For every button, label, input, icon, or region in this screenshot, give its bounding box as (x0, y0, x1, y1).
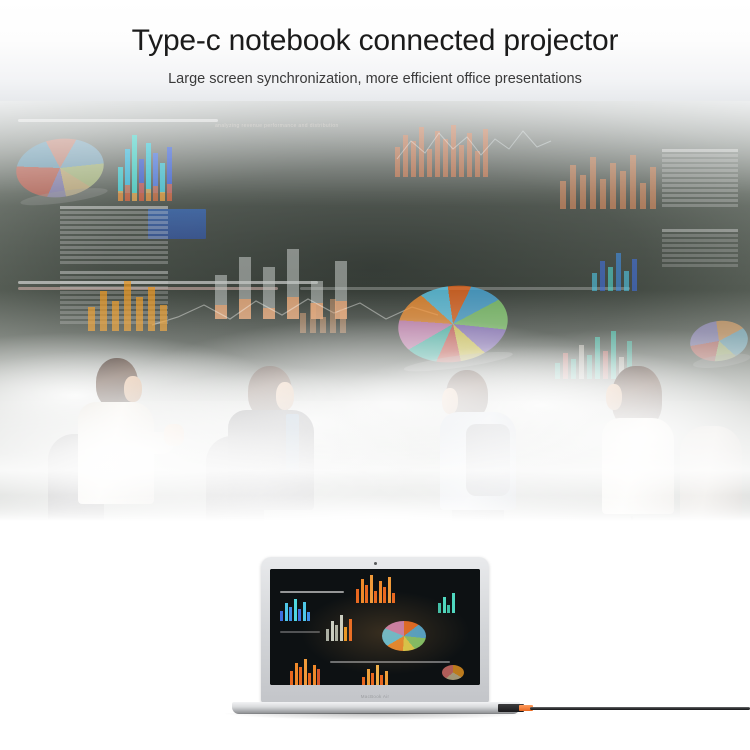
laptop-shadow (225, 713, 527, 720)
product-banner: Type-c notebook connected projector Larg… (0, 0, 750, 750)
page-subtitle: Large screen synchronization, more effic… (0, 71, 750, 87)
laptop-screen (270, 569, 480, 685)
laptop-lid: MacBook Air (261, 557, 489, 703)
screen-glow (270, 569, 480, 685)
fog-overlay (0, 101, 750, 521)
hero-photo: analyzing revenue performance and distri… (0, 101, 750, 521)
type-c-cable (530, 707, 750, 710)
banner-header: Type-c notebook connected projector Larg… (0, 0, 750, 102)
laptop-lid-label: MacBook Air (261, 694, 489, 699)
photo-bottom-fade (0, 495, 750, 521)
laptop-section: MacBook Air (0, 521, 750, 750)
page-title: Type-c notebook connected projector (0, 24, 750, 58)
laptop-screen-content (270, 569, 480, 685)
webcam-icon (374, 562, 377, 565)
